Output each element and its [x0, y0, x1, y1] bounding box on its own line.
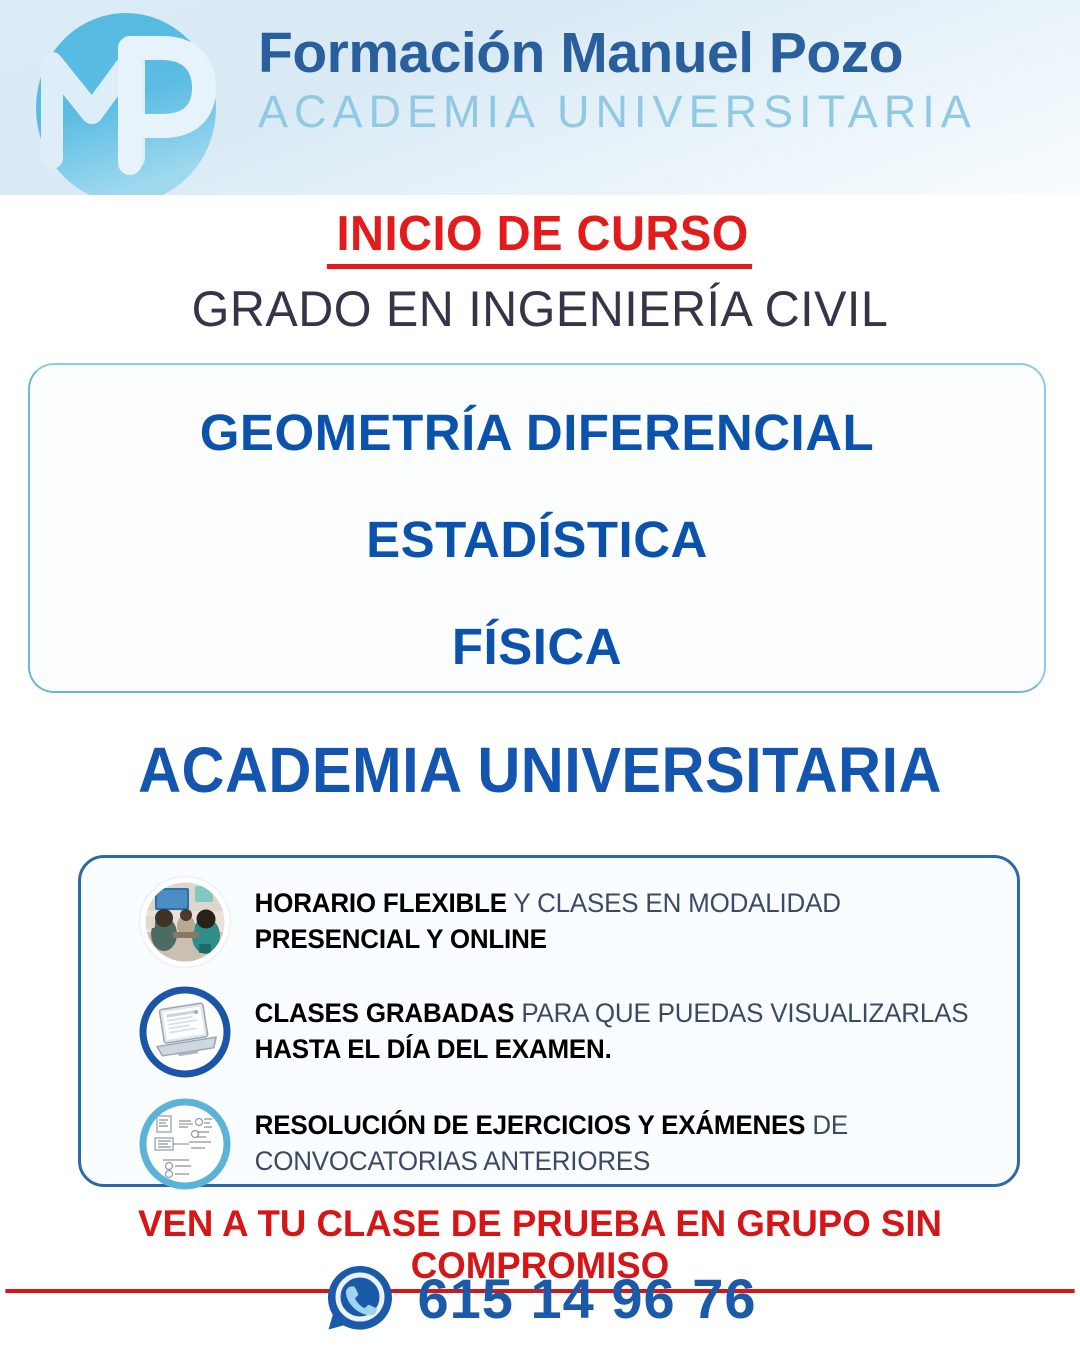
- features-box: HORARIO FLEXIBLE Y CLASES EN MODALIDAD P…: [78, 855, 1020, 1187]
- feature-text: CLASES GRABADAS PARA QUE PUEDAS VISUALIZ…: [237, 980, 984, 1068]
- subject-item: GEOMETRÍA DIFERENCIAL: [30, 403, 1044, 462]
- feature-normal-mid: Y CLASES EN MODALIDAD: [507, 888, 841, 918]
- kicker-wrap: INICIO DE CURSO: [0, 206, 1080, 269]
- flyer-page: Formación Manuel Pozo ACADEMIA UNIVERSIT…: [0, 0, 1080, 1350]
- brand-title: Formación Manuel Pozo: [258, 24, 1058, 82]
- kicker-text: INICIO DE CURSO: [327, 206, 753, 269]
- subject-item: FÍSICA: [30, 617, 1044, 676]
- handwritten-notes-icon: [133, 1092, 237, 1196]
- feature-bold-tail: HASTA EL DÍA DEL EXAMEN.: [255, 1034, 612, 1064]
- feature-bold-lead: HORARIO FLEXIBLE: [255, 888, 507, 918]
- feature-row: RESOLUCIÓN DE EJERCICIOS Y EXÁMENES DE C…: [81, 1092, 1017, 1196]
- brand-lockup: Formación Manuel Pozo ACADEMIA UNIVERSIT…: [258, 24, 1058, 138]
- header-band: Formación Manuel Pozo ACADEMIA UNIVERSIT…: [0, 0, 1080, 195]
- phone-number[interactable]: 615 14 96 76: [418, 1266, 757, 1331]
- feature-row: CLASES GRABADAS PARA QUE PUEDAS VISUALIZ…: [81, 980, 1017, 1084]
- mp-logo-icon: [22, 8, 230, 195]
- subject-item: ESTADÍSTICA: [30, 510, 1044, 569]
- academy-headline: ACADEMIA UNIVERSITARIA: [38, 733, 1042, 807]
- feature-row: HORARIO FLEXIBLE Y CLASES EN MODALIDAD P…: [81, 870, 1017, 974]
- brand-subtitle: ACADEMIA UNIVERSITARIA: [258, 86, 1058, 138]
- whatsapp-icon[interactable]: [324, 1262, 396, 1334]
- feature-bold-lead: RESOLUCIÓN DE EJERCICIOS Y EXÁMENES: [255, 1110, 806, 1140]
- feature-bold-tail: PRESENCIAL Y ONLINE: [255, 924, 547, 954]
- laptop-icon: [133, 980, 237, 1084]
- feature-text: HORARIO FLEXIBLE Y CLASES EN MODALIDAD P…: [237, 870, 984, 958]
- contact-row[interactable]: 615 14 96 76: [0, 1262, 1080, 1334]
- degree-title: GRADO EN INGENIERÍA CIVIL: [16, 280, 1064, 338]
- feature-normal-mid: PARA QUE PUEDAS VISUALIZARLAS: [514, 998, 968, 1028]
- feature-bold-lead: CLASES GRABADAS: [255, 998, 515, 1028]
- classroom-photo-icon: [133, 870, 237, 974]
- feature-text: RESOLUCIÓN DE EJERCICIOS Y EXÁMENES DE C…: [237, 1092, 984, 1180]
- subjects-box: GEOMETRÍA DIFERENCIAL ESTADÍSTICA FÍSICA: [28, 363, 1046, 693]
